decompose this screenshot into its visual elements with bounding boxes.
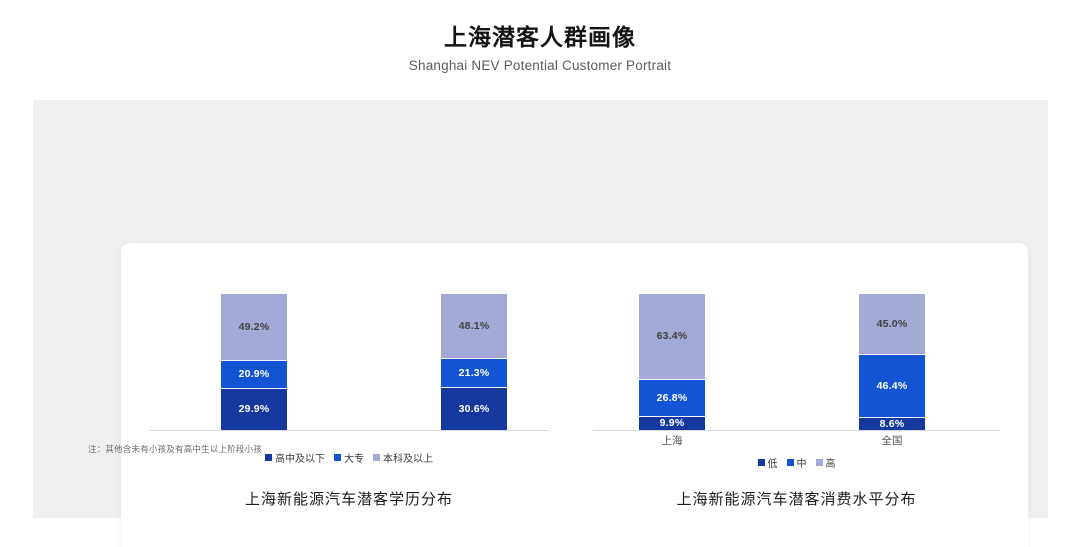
bar-segment[interactable]: 30.6% [441,388,507,430]
legend-consumption: 低中高 [573,455,1020,470]
x-axis-tick-label: 上海 [639,433,705,449]
bar-segment-label: 29.9% [239,404,270,415]
legend-label: 低 [768,455,778,470]
legend-swatch-icon [373,454,380,461]
chart-education: 29.9%20.9%49.2%30.6%21.3%48.1%高中及以下大专本科及… [129,243,569,547]
bar-segment-label: 48.1% [459,321,490,332]
page-header: 上海潜客人群画像 Shanghai NEV Potential Customer… [0,22,1080,76]
x-axis-labels: 上海全国 [573,433,1020,449]
bar-segment-label: 26.8% [657,393,688,404]
bar-segment[interactable]: 9.9% [639,417,705,430]
legend-swatch-icon [816,459,823,466]
legend-item[interactable]: 高中及以下 [265,450,325,465]
chart-caption: 上海新能源汽车潜客学历分布 [129,488,569,509]
legend-label: 高 [826,455,836,470]
bar-segment[interactable]: 49.2% [221,294,287,361]
page-title: 上海潜客人群画像 [0,22,1080,52]
bar-segment[interactable]: 46.4% [859,355,925,418]
legend-label: 高中及以下 [275,450,325,465]
page-subtitle: Shanghai NEV Potential Customer Portrait [0,56,1080,76]
bar-segment-label: 46.4% [877,381,908,392]
legend-swatch-icon [787,459,794,466]
bar-segment-label: 20.9% [239,369,270,380]
legend-item[interactable]: 高 [816,455,836,470]
bar-segment[interactable]: 29.9% [221,389,287,430]
slide-page: 上海潜客人群画像 Shanghai NEV Potential Customer… [0,0,1080,547]
stacked-bar[interactable]: 9.9%26.8%63.4% [639,294,705,430]
footnote: 注：其他含未有小孩及有高中生以上阶段小孩 [88,443,262,455]
bar-segment-label: 9.9% [660,418,685,429]
bar-segment-label: 45.0% [877,319,908,330]
plot-area-consumption: 9.9%26.8%63.4%8.6%46.4%45.0% [573,295,1020,431]
bar-segment[interactable]: 48.1% [441,294,507,359]
legend-label: 本科及以上 [383,450,433,465]
legend-swatch-icon [334,454,341,461]
plot-area-education: 29.9%20.9%49.2%30.6%21.3%48.1% [129,295,569,431]
legend-item[interactable]: 中 [787,455,807,470]
bar-segment[interactable]: 45.0% [859,294,925,355]
bar-segment-label: 30.6% [459,404,490,415]
stacked-bar[interactable]: 29.9%20.9%49.2% [221,294,287,430]
legend-swatch-icon [265,454,272,461]
charts-card: 29.9%20.9%49.2%30.6%21.3%48.1%高中及以下大专本科及… [121,243,1028,547]
content-panel: 29.9%20.9%49.2%30.6%21.3%48.1%高中及以下大专本科及… [33,100,1048,518]
stacked-bar[interactable]: 30.6%21.3%48.1% [441,294,507,430]
legend-label: 中 [797,455,807,470]
legend-label: 大专 [344,450,364,465]
bar-segment[interactable]: 20.9% [221,361,287,389]
legend-item[interactable]: 低 [758,455,778,470]
legend-swatch-icon [758,459,765,466]
chart-caption: 上海新能源汽车潜客消费水平分布 [573,488,1020,509]
chart-consumption: 9.9%26.8%63.4%8.6%46.4%45.0%上海全国低中高上海新能源… [573,243,1020,547]
bar-segment[interactable]: 26.8% [639,380,705,416]
charts-row: 29.9%20.9%49.2%30.6%21.3%48.1%高中及以下大专本科及… [121,243,1028,547]
legend-item[interactable]: 本科及以上 [373,450,433,465]
x-axis-line [593,430,1000,431]
legend-item[interactable]: 大专 [334,450,364,465]
x-axis-tick-label: 全国 [859,433,925,449]
bar-segment[interactable]: 63.4% [639,294,705,380]
bar-segment[interactable]: 21.3% [441,359,507,388]
bar-segment-label: 8.6% [880,419,905,430]
bar-segment-label: 21.3% [459,368,490,379]
bar-segment-label: 63.4% [657,331,688,342]
bar-segment[interactable]: 8.6% [859,418,925,430]
stacked-bar[interactable]: 8.6%46.4%45.0% [859,294,925,430]
x-axis-line [149,430,549,431]
bar-segment-label: 49.2% [239,322,270,333]
